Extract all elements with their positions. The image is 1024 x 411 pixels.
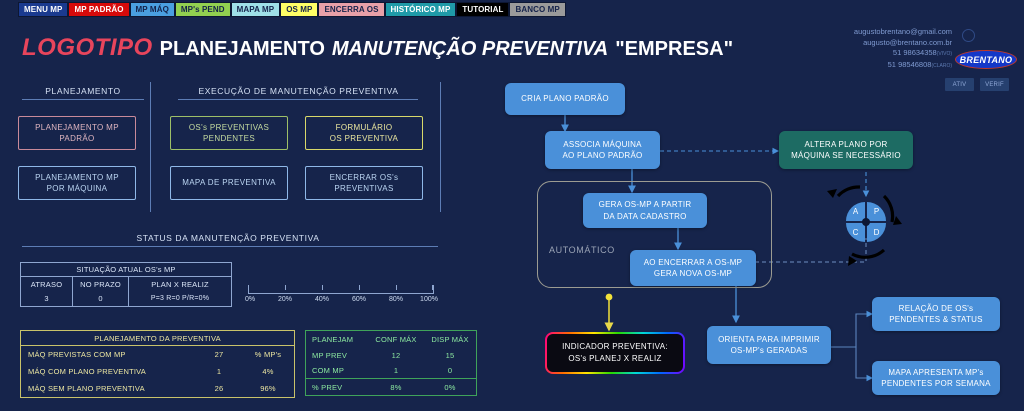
nav-item-mps-pend[interactable]: MP's PEND: [175, 2, 231, 17]
row-label: COM MP: [306, 363, 368, 379]
flow-node-altera-plano[interactable]: ALTERA PLANO POR MÁQUINA SE NECESSÁRIO: [779, 131, 913, 169]
scale-tick: [432, 285, 433, 290]
percent-scale: 0% 20% 40% 60% 80% 100%: [248, 285, 434, 309]
contact-email-2: augusto@brentano.com.br: [854, 38, 952, 49]
button-label-line2: PENDENTES: [203, 133, 255, 145]
row-disp: 0%: [424, 379, 476, 395]
nav-item-mapa-mp[interactable]: MAPA MP: [231, 2, 281, 17]
scale-label: 80%: [389, 296, 403, 303]
table-conf-disp: PLANEJAM CONF MÁX DISP MÁX MP PREV 12 15…: [305, 330, 477, 396]
contact-phone-2: 51 98546808(CLARO): [854, 60, 952, 72]
row-pct: 4%: [242, 363, 294, 380]
button-label-line1: OS's PREVENTIVAS: [189, 122, 269, 134]
pdca-quadrant-d: D: [867, 223, 886, 242]
scale-label: 40%: [315, 296, 329, 303]
row-label: MÁQ COM PLANO PREVENTIVA: [21, 363, 196, 380]
contact-email-1: augustobrentano@gmail.com: [854, 27, 952, 38]
node-label-line2: DA DATA CADASTRO: [603, 211, 686, 223]
row-disp: 0: [424, 363, 476, 379]
table-header-row: PLANEJAM CONF MÁX DISP MÁX: [306, 331, 476, 347]
flow-node-orienta-imprimir[interactable]: ORIENTA PARA IMPRIMIR OS-MP's GERADAS: [707, 326, 831, 364]
value-no-prazo: 0: [73, 291, 129, 306]
pdca-hub: [862, 218, 870, 226]
row-qty: 27: [196, 346, 242, 363]
table-planejamento-preventiva: PLANEJAMENTO DA PREVENTIVA MÁQ PREVISTAS…: [20, 330, 295, 398]
button-mapa-de-preventiva[interactable]: MAPA DE PREVENTIVA: [170, 166, 288, 200]
scale-tick: [396, 285, 397, 290]
row-conf: 8%: [368, 379, 424, 395]
row-label: MÁQ PREVISTAS COM MP: [21, 346, 196, 363]
nav-item-historico-mp[interactable]: HISTÓRICO MP: [385, 2, 457, 17]
indicator-label-line2: OS's PLANEJ X REALIZ: [568, 353, 661, 365]
scale-tick: [248, 285, 249, 290]
contact-info: augustobrentano@gmail.com augusto@brenta…: [854, 27, 952, 71]
decorative-circle-icon: [962, 29, 975, 42]
scale-label: 100%: [420, 296, 438, 303]
row-pct: 96%: [242, 380, 294, 397]
button-label-line2: OS PREVENTIVA: [330, 133, 398, 145]
section-title-execucao: EXECUÇÃO DE MANUTENÇÃO PREVENTIVA: [166, 86, 431, 96]
value-plan-x-realiz: P=3 R=0 P/R=0%: [129, 291, 231, 306]
pdca-wheel-icon: A P C D: [845, 201, 887, 243]
button-oss-preventivas-pendentes[interactable]: OS's PREVENTIVAS PENDENTES: [170, 116, 288, 150]
scale-track: [248, 285, 434, 294]
section-title-planejamento: PLANEJAMENTO: [18, 86, 148, 96]
button-encerrar-oss-preventivas[interactable]: ENCERRAR OS's PREVENTIVAS: [305, 166, 423, 200]
node-label-line2: MÁQUINA SE NECESSÁRIO: [791, 150, 901, 162]
row-label: MÁQ SEM PLANO PREVENTIVA: [21, 380, 196, 397]
table-row: MÁQ PREVISTAS COM MP 27 % MP's: [21, 346, 294, 363]
automatico-label: AUTOMÁTICO: [549, 245, 615, 255]
table-header-row: ATRASO NO PRAZO PLAN X REALIZ: [21, 277, 231, 291]
title-part-planejamento: PLANEJAMENTO: [160, 38, 325, 61]
button-label-line1: PLANEJAMENTO MP: [35, 122, 119, 134]
nav-item-mp-maq[interactable]: MP MÁQ: [130, 2, 175, 17]
ativ-button[interactable]: ATIV: [945, 78, 974, 91]
contact-phone-1: 51 98634358(VIVO): [854, 48, 952, 60]
row-qty: 26: [196, 380, 242, 397]
section-rule-planejamento: [22, 99, 144, 100]
nav-item-menu-mp[interactable]: MENU MP: [18, 2, 68, 17]
table-row: MÁQ SEM PLANO PREVENTIVA 26 96%: [21, 380, 294, 397]
button-label-line1: MAPA DE PREVENTIVA: [182, 177, 276, 189]
node-label-line2: AO PLANO PADRÃO: [562, 150, 642, 162]
header-planejam: PLANEJAM: [306, 331, 368, 347]
scale-tick: [322, 285, 323, 290]
table-row: MÁQ COM PLANO PREVENTIVA 1 4%: [21, 363, 294, 380]
node-label-line1: MAPA APRESENTA MP's: [888, 367, 983, 379]
brentano-logo: BRENTANO: [955, 50, 1017, 69]
node-label-line1: ORIENTA PARA IMPRIMIR: [718, 334, 820, 346]
flow-node-ao-encerrar-os-mp[interactable]: AO ENCERRAR A OS-MP GERA NOVA OS-MP: [630, 250, 756, 286]
table-title-cell: SITUAÇÃO ATUAL OS's MP: [21, 263, 231, 277]
indicador-preventiva-inner: INDICADOR PREVENTIVA: OS's PLANEJ X REAL…: [547, 334, 683, 372]
scale-tick: [359, 285, 360, 290]
flow-node-associa-maquina[interactable]: ASSOCIA MÁQUINA AO PLANO PADRÃO: [545, 131, 660, 169]
button-formulario-os-preventiva[interactable]: FORMULÁRIO OS PREVENTIVA: [305, 116, 423, 150]
node-label-line1: AO ENCERRAR A OS-MP: [644, 257, 743, 269]
header-conf-max: CONF MÁX: [368, 331, 424, 347]
button-planejamento-mp-por-maquina[interactable]: PLANEJAMENTO MP POR MÁQUINA: [18, 166, 136, 200]
button-label-line2: PREVENTIVAS: [334, 183, 393, 195]
pdca-quadrant-p: P: [867, 202, 886, 221]
row-conf: 1: [368, 363, 424, 379]
button-label-line1: FORMULÁRIO: [336, 122, 393, 134]
row-pct: % MP's: [242, 346, 294, 363]
node-label-line2: PENDENTES & STATUS: [889, 314, 983, 326]
page-title: LOGOTIPO PLANEJAMENTO MANUTENÇÃO PREVENT…: [22, 34, 733, 62]
node-label-line1: ASSOCIA MÁQUINA: [563, 139, 641, 151]
title-part-empresa: "EMPRESA": [615, 38, 733, 61]
nav-item-os-mp[interactable]: OS MP: [280, 2, 318, 17]
table-value-row: 3 0 P=3 R=0 P/R=0%: [21, 291, 231, 306]
table-row: COM MP 1 0: [306, 363, 476, 379]
node-label-line2: OS-MP's GERADAS: [731, 345, 808, 357]
scale-label: 0%: [245, 296, 255, 303]
value-atraso: 3: [21, 291, 73, 306]
row-label: MP PREV: [306, 347, 368, 363]
node-label-line2: PENDENTES POR SEMANA: [881, 378, 990, 390]
scale-label: 60%: [352, 296, 366, 303]
verif-button[interactable]: VERIF: [980, 78, 1009, 91]
node-label-line1: CRIA PLANO PADRÃO: [521, 93, 609, 105]
header-atraso: ATRASO: [21, 277, 73, 291]
nav-item-mp-padrao[interactable]: MP PADRÃO: [68, 2, 129, 17]
row-conf: 12: [368, 347, 424, 363]
top-navbar: MENU MP MP PADRÃO MP MÁQ MP's PEND MAPA …: [18, 2, 566, 17]
pdca-quadrant-a: A: [846, 202, 865, 221]
row-qty: 1: [196, 363, 242, 380]
flow-node-gera-os-mp[interactable]: GERA OS-MP A PARTIR DA DATA CADASTRO: [583, 193, 707, 228]
flow-node-cria-plano-padrao[interactable]: CRIA PLANO PADRÃO: [505, 83, 625, 115]
indicator-label-line1: INDICADOR PREVENTIVA:: [562, 341, 668, 353]
nav-item-banco-mp[interactable]: BANCO MP: [509, 2, 565, 17]
header-action-buttons: ATIV VERIF: [945, 78, 1009, 91]
dashboard-root: MENU MP MP PADRÃO MP MÁQ MP's PEND MAPA …: [0, 0, 1024, 411]
table-title-cell: PLANEJAMENTO DA PREVENTIVA: [21, 331, 294, 346]
header-plan-x-realiz: PLAN X REALIZ: [129, 277, 231, 291]
header-no-prazo: NO PRAZO: [73, 277, 129, 291]
button-label-line2: PADRÃO: [59, 133, 94, 145]
flow-node-relacao-oss-pendentes[interactable]: RELAÇÃO DE OS's PENDENTES & STATUS: [872, 297, 1000, 331]
node-label-line2: GERA NOVA OS-MP: [654, 268, 732, 280]
button-label-line1: ENCERRAR OS's: [330, 172, 399, 184]
row-disp: 15: [424, 347, 476, 363]
section-rule-execucao: [178, 99, 418, 100]
section-rule-status: [22, 246, 438, 247]
logotipo-text: LOGOTIPO: [22, 34, 153, 62]
section-title-status: STATUS DA MANUTENÇÃO PREVENTIVA: [18, 233, 438, 243]
nav-item-encerra-os[interactable]: ENCERRA OS: [318, 2, 384, 17]
button-planejamento-mp-padrao[interactable]: PLANEJAMENTO MP PADRÃO: [18, 116, 136, 150]
table-situacao-atual: SITUAÇÃO ATUAL OS's MP ATRASO NO PRAZO P…: [20, 262, 232, 307]
header-disp-max: DISP MÁX: [424, 331, 476, 347]
row-label: % PREV: [306, 379, 368, 395]
node-label-line1: RELAÇÃO DE OS's: [899, 303, 974, 315]
flow-node-mapa-apresenta-mps[interactable]: MAPA APRESENTA MP's PENDENTES POR SEMANA: [872, 361, 1000, 395]
table-title-row: SITUAÇÃO ATUAL OS's MP: [21, 263, 231, 277]
indicador-preventiva-box[interactable]: INDICADOR PREVENTIVA: OS's PLANEJ X REAL…: [545, 332, 685, 374]
table-row: % PREV 8% 0%: [306, 379, 476, 395]
button-label-line2: POR MÁQUINA: [47, 183, 108, 195]
panel-divider-right: [440, 82, 441, 212]
button-label-line1: PLANEJAMENTO MP: [35, 172, 119, 184]
pdca-quadrant-c: C: [846, 223, 865, 242]
table-row: MP PREV 12 15: [306, 347, 476, 363]
scale-tick: [285, 285, 286, 290]
panel-divider: [150, 82, 151, 212]
scale-label: 20%: [278, 296, 292, 303]
nav-item-tutorial[interactable]: TUTORIAL: [456, 2, 509, 17]
title-part-manutencao: MANUTENÇÃO PREVENTIVA: [332, 38, 608, 61]
node-label-line1: ALTERA PLANO POR: [805, 139, 888, 151]
node-label-line1: GERA OS-MP A PARTIR: [599, 199, 692, 211]
